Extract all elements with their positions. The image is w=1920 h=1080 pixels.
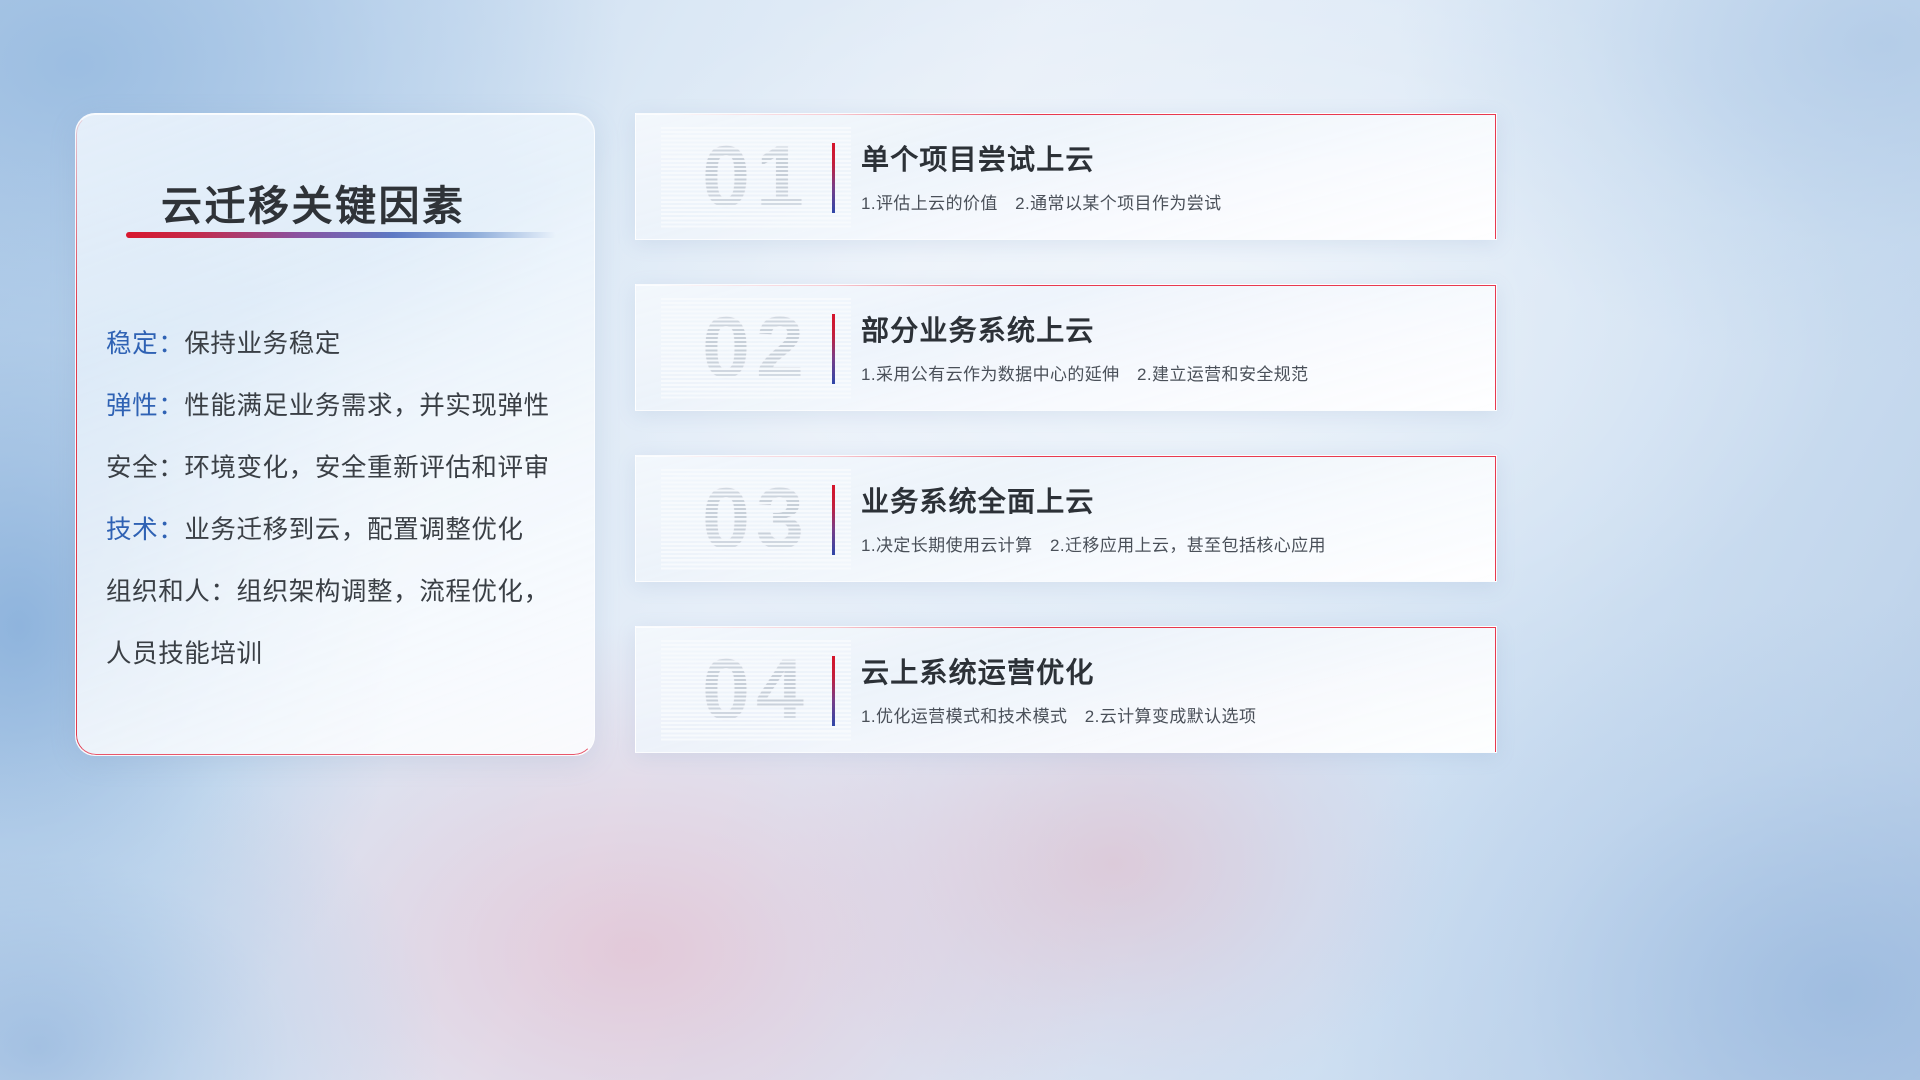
card-divider-bar bbox=[832, 143, 835, 213]
card-body: 部分业务系统上云1.采用公有云作为数据中心的延伸 2.建立运营和安全规范 bbox=[861, 309, 1476, 385]
key-factor-label: 稳定： bbox=[106, 323, 184, 360]
stage-card[interactable]: 03业务系统全面上云1.决定长期使用云计算 2.迁移应用上云，甚至包括核心应用 bbox=[635, 455, 1497, 582]
stage-card[interactable]: 02部分业务系统上云1.采用公有云作为数据中心的延伸 2.建立运营和安全规范 bbox=[635, 284, 1497, 411]
card-divider-bar bbox=[832, 485, 835, 555]
card-description: 1.决定长期使用云计算 2.迁移应用上云，甚至包括核心应用 bbox=[861, 531, 1476, 556]
slide-content: 云迁移关键因素 稳定：保持业务稳定弹性：性能满足业务需求，并实现弹性安全：环境变… bbox=[0, 0, 1920, 1080]
card-title: 部分业务系统上云 bbox=[861, 309, 1476, 349]
stage-card[interactable]: 04云上系统运营优化1.优化运营模式和技术模式 2.云计算变成默认选项 bbox=[635, 626, 1497, 753]
page-title: 云迁移关键因素 bbox=[161, 172, 466, 232]
key-factor-value: 业务迁移到云，配置调整优化 bbox=[184, 509, 523, 546]
stage-number-watermark: 04 bbox=[661, 640, 851, 740]
key-factor-row: 稳定：保持业务稳定 bbox=[106, 310, 572, 372]
stage-number-watermark: 01 bbox=[661, 127, 851, 227]
key-factor-row: 技术：业务迁移到云，配置调整优化 bbox=[106, 496, 572, 558]
card-description: 1.评估上云的价值 2.通常以某个项目作为尝试 bbox=[861, 189, 1476, 214]
key-factor-label: 组织和人： bbox=[106, 571, 237, 608]
key-factor-row: 人员技能培训 bbox=[106, 620, 572, 682]
key-factor-value: 保持业务稳定 bbox=[184, 323, 341, 360]
key-factor-row: 安全：环境变化，安全重新评估和评审 bbox=[106, 434, 572, 496]
card-title: 云上系统运营优化 bbox=[861, 651, 1476, 691]
key-factor-value: 人员技能培训 bbox=[106, 633, 263, 670]
card-body: 业务系统全面上云1.决定长期使用云计算 2.迁移应用上云，甚至包括核心应用 bbox=[861, 480, 1476, 556]
key-factor-label: 弹性： bbox=[106, 385, 184, 422]
key-factor-row: 组织和人：组织架构调整，流程优化， bbox=[106, 558, 572, 620]
title-underline-gradient bbox=[126, 232, 556, 238]
key-factor-row: 弹性：性能满足业务需求，并实现弹性 bbox=[106, 372, 572, 434]
key-factors-panel: 云迁移关键因素 稳定：保持业务稳定弹性：性能满足业务需求，并实现弹性安全：环境变… bbox=[75, 113, 595, 756]
card-divider-bar bbox=[832, 656, 835, 726]
key-factor-value: 组织架构调整，流程优化， bbox=[237, 571, 550, 608]
card-title: 单个项目尝试上云 bbox=[861, 138, 1476, 178]
migration-stage-cards: 01单个项目尝试上云1.评估上云的价值 2.通常以某个项目作为尝试02部分业务系… bbox=[635, 113, 1497, 797]
stage-number-watermark: 03 bbox=[661, 469, 851, 569]
key-factor-value: 环境变化，安全重新评估和评审 bbox=[184, 447, 549, 484]
key-factor-value: 性能满足业务需求，并实现弹性 bbox=[184, 385, 549, 422]
card-title: 业务系统全面上云 bbox=[861, 480, 1476, 520]
stage-number-watermark: 02 bbox=[661, 298, 851, 398]
card-description: 1.优化运营模式和技术模式 2.云计算变成默认选项 bbox=[861, 702, 1476, 727]
card-divider-bar bbox=[832, 314, 835, 384]
card-body: 单个项目尝试上云1.评估上云的价值 2.通常以某个项目作为尝试 bbox=[861, 138, 1476, 214]
stage-card[interactable]: 01单个项目尝试上云1.评估上云的价值 2.通常以某个项目作为尝试 bbox=[635, 113, 1497, 240]
card-body: 云上系统运营优化1.优化运营模式和技术模式 2.云计算变成默认选项 bbox=[861, 651, 1476, 727]
card-description: 1.采用公有云作为数据中心的延伸 2.建立运营和安全规范 bbox=[861, 360, 1476, 385]
key-factor-label: 安全： bbox=[106, 447, 184, 484]
key-factor-label: 技术： bbox=[106, 509, 184, 546]
key-factors-list: 稳定：保持业务稳定弹性：性能满足业务需求，并实现弹性安全：环境变化，安全重新评估… bbox=[106, 310, 572, 682]
